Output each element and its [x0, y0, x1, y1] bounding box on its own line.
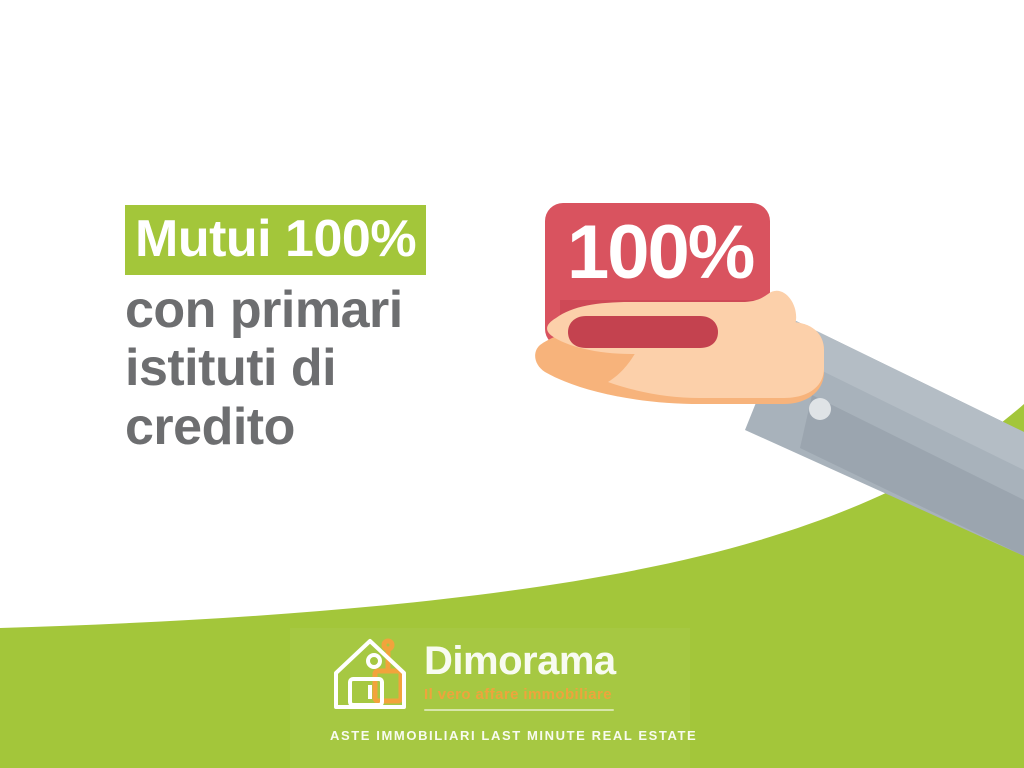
logo-text-block: Dimorama Il vero affare immobiliare — [424, 641, 616, 711]
house-logo-icon — [330, 633, 418, 715]
headline-line-2: istituti di — [125, 339, 555, 397]
headline-line-1: con primari — [125, 281, 555, 339]
headline-highlight: Mutui 100% — [125, 205, 426, 275]
headline-subtext: con primari istituti di credito — [125, 281, 555, 456]
promo-banner: Mutui 100% con primari istituti di credi… — [0, 0, 1024, 768]
sleeve-shape — [745, 318, 1024, 556]
logo-wordmark: Dimorama — [424, 641, 616, 681]
logo-divider — [424, 709, 614, 711]
percent-card-shadow — [560, 300, 760, 350]
percent-card-value: 100% — [567, 215, 753, 291]
headline-line-3: credito — [125, 398, 555, 456]
headline-highlight-row: Mutui 100% — [125, 205, 426, 275]
logo-subline: ASTE IMMOBILIARI LAST MINUTE REAL ESTATE — [330, 729, 680, 742]
logo-tagline: Il vero affare immobiliare — [424, 687, 616, 702]
logo-lockup: Dimorama Il vero affare immobiliare — [330, 634, 670, 714]
house-outline — [336, 641, 404, 707]
sleeve-button — [809, 398, 831, 420]
headline-block: Mutui 100% con primari istituti di credi… — [125, 205, 555, 456]
